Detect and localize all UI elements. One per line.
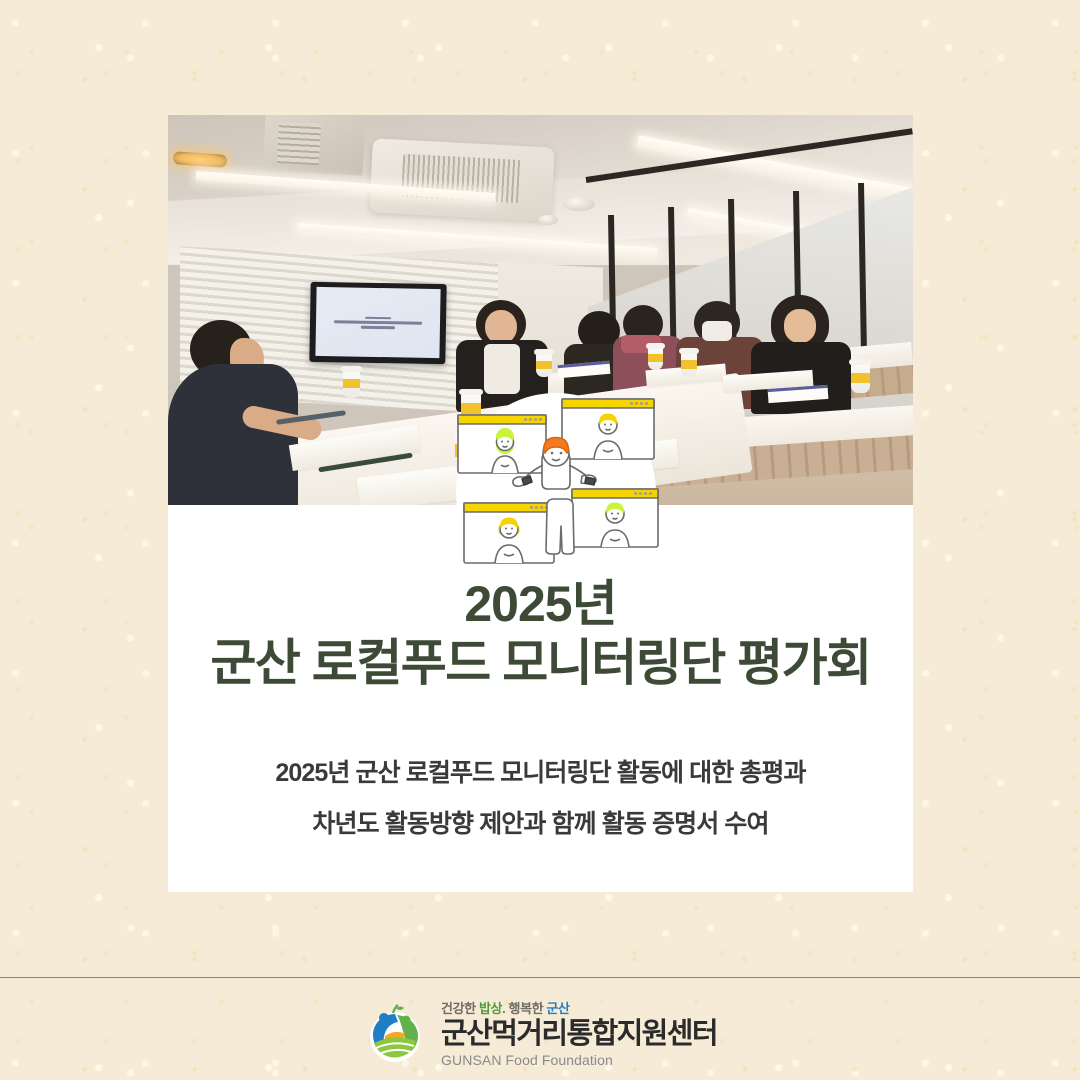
video-window-top-right bbox=[562, 399, 654, 459]
video-window-bottom-left bbox=[464, 503, 554, 563]
subtitle-line-2: 차년도 활동방향 제안과 함께 활동 증명서 수여 bbox=[168, 799, 913, 850]
photo-coffee-cup bbox=[648, 347, 663, 370]
title-main: 군산 로컬푸드 모니터링단 평가회 bbox=[168, 634, 913, 693]
poster-card: 2025년 군산 로컬푸드 모니터링단 평가회 2025년 군산 로컬푸드 모니… bbox=[168, 115, 913, 892]
photo-person bbox=[168, 320, 318, 505]
gunsan-food-foundation-logo-icon bbox=[363, 1001, 427, 1065]
photo-ceiling-vent bbox=[263, 115, 366, 176]
video-window-top-left bbox=[458, 415, 546, 473]
photo-coffee-cup bbox=[851, 363, 870, 393]
title-year: 2025년 bbox=[168, 575, 913, 634]
photo-ceiling-speaker bbox=[563, 197, 595, 211]
logo-text-block: 건강한 밥상. 행복한 군산 군산먹거리통합지원센터 GUNSAN Food F… bbox=[441, 998, 717, 1068]
poster-title: 2025년 군산 로컬푸드 모니터링단 평가회 bbox=[168, 575, 913, 693]
poster-subtitle: 2025년 군산 로컬푸드 모니터링단 활동에 대한 총평과 차년도 활동방향 … bbox=[168, 748, 913, 851]
photo-screen-content bbox=[315, 287, 440, 358]
video-window-bottom-right bbox=[572, 489, 658, 547]
photo-air-conditioner bbox=[369, 138, 555, 221]
photo-screen-text-line bbox=[334, 320, 422, 325]
photo-screen-text-line bbox=[361, 325, 395, 329]
photo-coffee-cup bbox=[681, 352, 697, 377]
footer: 건강한 밥상. 행복한 군산 군산먹거리통합지원센터 GUNSAN Food F… bbox=[0, 986, 1080, 1080]
logo-tagline-blue: 군산 bbox=[546, 1001, 569, 1016]
illustration-artwork bbox=[446, 393, 666, 568]
photo-ceiling-sensor bbox=[538, 215, 558, 225]
logo-tagline-part-2: 행복한 bbox=[505, 1001, 546, 1016]
online-meeting-illustration bbox=[446, 393, 666, 568]
logo-tagline-green: 밥상. bbox=[479, 1001, 505, 1016]
photo-screen-text-line bbox=[365, 316, 391, 318]
logo-name-english: GUNSAN Food Foundation bbox=[441, 1053, 717, 1068]
logo-tagline-part-1: 건강한 bbox=[441, 1001, 479, 1016]
footer-divider bbox=[0, 977, 1080, 978]
logo-tagline: 건강한 밥상. 행복한 군산 bbox=[441, 998, 717, 1017]
photo-coffee-cup bbox=[343, 370, 360, 398]
subtitle-line-1: 2025년 군산 로컬푸드 모니터링단 활동에 대한 총평과 bbox=[168, 748, 913, 799]
logo-name-korean: 군산먹거리통합지원센터 bbox=[441, 1019, 717, 1051]
photo-coffee-cup bbox=[536, 353, 552, 377]
photo-presentation-screen bbox=[309, 282, 446, 364]
